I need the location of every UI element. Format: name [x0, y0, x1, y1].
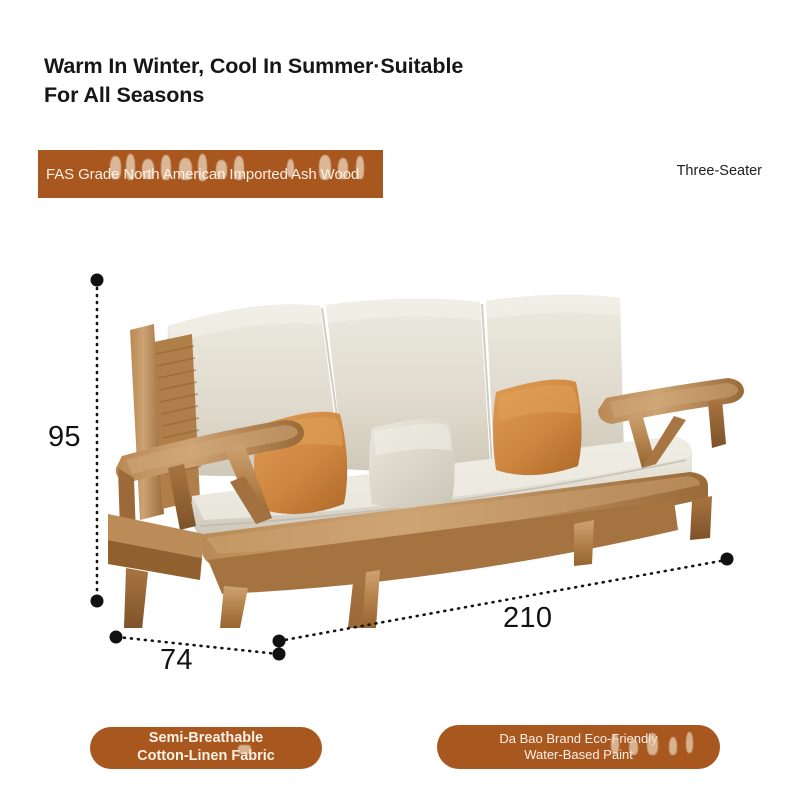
seater-count-label: Three-Seater [677, 163, 762, 179]
dimension-dot-height-top [91, 274, 104, 287]
decor-pillow-right-orange [493, 380, 582, 476]
dimension-dot-width-left [273, 635, 286, 648]
dimension-label-depth: 74 [160, 646, 193, 675]
product-dimension-card: Warm In Winter, Cool In Summer·Suitable … [0, 0, 800, 800]
frame-left-back-panel [130, 324, 201, 520]
dimension-line-depth [117, 637, 278, 654]
dimension-label-width: 210 [503, 604, 552, 633]
dimension-dot-depth-right [273, 648, 286, 661]
feature-pill-paint-label: Da Bao Brand Eco-Friendly Water-Based Pa… [499, 731, 657, 763]
feature-pill-paint: Da Bao Brand Eco-Friendly Water-Based Pa… [437, 725, 720, 769]
feature-pill-fabric-label: Semi-Breathable Cotton-Linen Fabric [137, 730, 275, 766]
decor-pillow-center-grey [369, 418, 455, 508]
feature-pill-fabric: Semi-Breathable Cotton-Linen Fabric [90, 727, 322, 769]
product-image-sofa [108, 268, 748, 628]
dimension-label-height: 95 [48, 423, 81, 452]
wood-grade-label: FAS Grade North American Imported Ash Wo… [46, 150, 359, 198]
dimension-dot-depth-left [110, 631, 123, 644]
page-title: Warm In Winter, Cool In Summer·Suitable … [44, 52, 564, 110]
dimension-dot-height-bottom [91, 595, 104, 608]
